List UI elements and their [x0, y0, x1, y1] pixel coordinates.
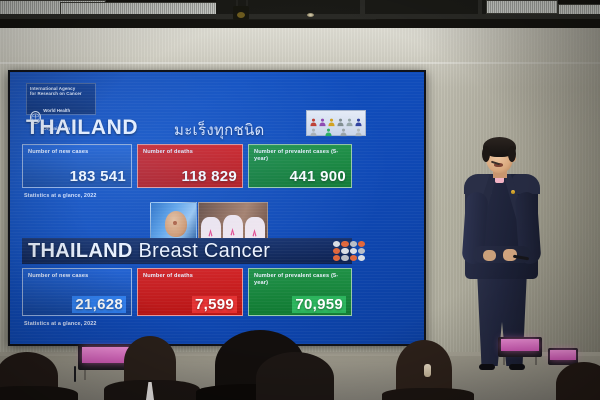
speaker-shoe	[479, 364, 495, 370]
speaker-hair-side	[508, 146, 516, 162]
stage-light	[498, 337, 542, 363]
lapel-pin-icon	[511, 190, 515, 194]
stage-light-leg	[503, 357, 505, 365]
hair-clip-icon	[424, 364, 431, 377]
speaker-hair-side	[482, 146, 490, 162]
speaker-hand	[483, 250, 496, 261]
stage-light-lens	[501, 339, 539, 351]
audience-shoulders	[382, 388, 474, 400]
ceiling-beam	[478, 0, 482, 16]
speaker-forearm	[473, 246, 531, 263]
ceiling-spotlight-icon	[307, 13, 314, 17]
ceiling-panel	[486, 0, 558, 14]
stage-light-leg	[535, 357, 537, 365]
speaker-shoe	[509, 364, 525, 370]
ceiling-beam	[0, 14, 600, 19]
stage-light-lens	[550, 350, 576, 360]
audience-shoulders	[0, 386, 78, 400]
speaker-person	[455, 134, 551, 370]
ceiling	[0, 0, 600, 30]
projector-lens-icon	[237, 12, 245, 18]
screen-scanlines	[10, 72, 424, 344]
stage-light-cable	[74, 366, 76, 382]
presentation-screen: International Agency for Research on Can…	[10, 72, 424, 344]
presentation-room-photo: International Agency for Research on Can…	[0, 0, 600, 400]
ceiling-beam	[360, 0, 365, 18]
stage-light-leg	[84, 370, 86, 380]
audience-head	[256, 352, 334, 400]
